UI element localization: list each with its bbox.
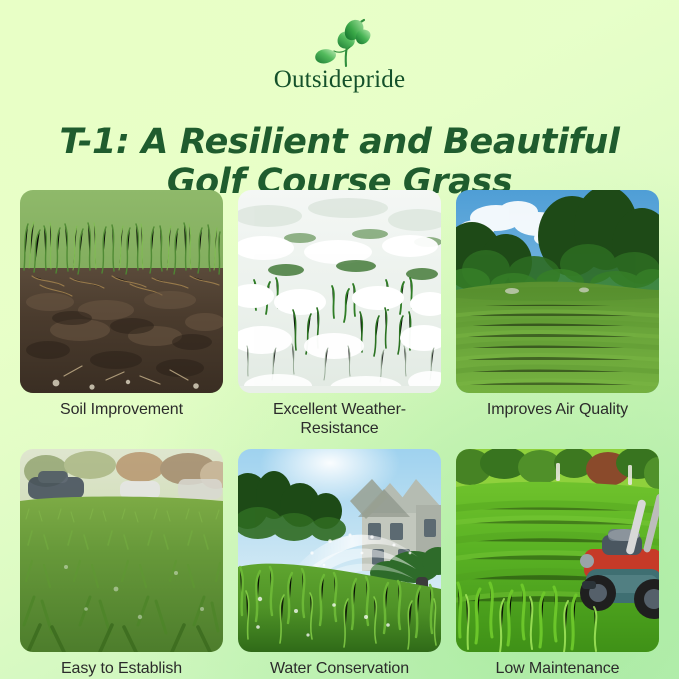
infographic-canvas: Outsidepride T-1: A Resilient and Beauti…: [0, 0, 679, 679]
feature-caption: Low Maintenance: [456, 660, 659, 679]
page-title-line-1: T-1: A Resilient and Beautiful: [38, 123, 641, 163]
feature-grid: Soil Improvement: [20, 190, 659, 679]
feature-caption: Excellent Weather- Resistance: [238, 401, 441, 439]
feature-cell-low-maintenance: Low Maintenance: [456, 449, 659, 679]
feature-cell-soil-improvement: Soil Improvement: [20, 190, 223, 439]
soil-cross-section-photo: [20, 190, 223, 393]
feature-caption: Easy to Establish: [20, 660, 223, 679]
lawn-mower-photo: [456, 449, 659, 652]
feature-cell-weather-resistance: Excellent Weather- Resistance: [238, 190, 441, 439]
dense-lawn-closeup-photo: [20, 449, 223, 652]
feature-cell-water-conservation: Water Conservation: [238, 449, 441, 679]
brand-logo: Outsidepride: [0, 8, 679, 92]
feature-caption: Improves Air Quality: [456, 401, 659, 420]
golf-course-green-photo: [456, 190, 659, 393]
feature-caption: Soil Improvement: [20, 401, 223, 420]
brand-wordmark: Outsidepride: [274, 67, 406, 92]
feature-cell-air-quality: Improves Air Quality: [456, 190, 659, 439]
feature-cell-easy-establish: Easy to Establish: [20, 449, 223, 679]
three-leaf-sprig-icon: [292, 14, 388, 70]
lawn-sprinkler-photo: [238, 449, 441, 652]
feature-caption-line-2: Resistance: [300, 420, 378, 437]
feature-caption-line-1: Excellent Weather-: [273, 401, 406, 418]
snow-covered-grass-photo: [238, 190, 441, 393]
feature-caption: Water Conservation: [238, 660, 441, 679]
